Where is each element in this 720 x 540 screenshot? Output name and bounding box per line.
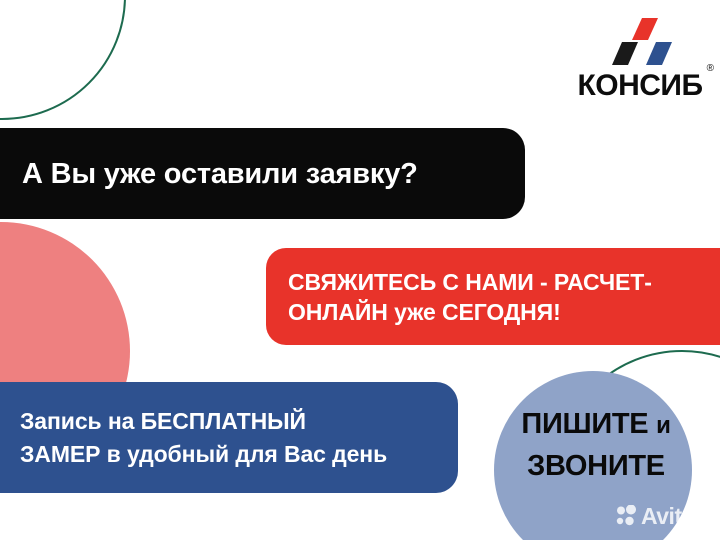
promo-banner: КОНСИБ ® А Вы уже оставили заявку? СВЯЖИ…: [0, 0, 720, 540]
registered-trademark-symbol: ®: [707, 64, 714, 74]
contact-line-2-zvonite: ЗВОНИТЕ: [527, 450, 665, 482]
contact-caption: ПИШИТЕ и ЗВОНИТЕ: [494, 404, 698, 486]
logo-wordmark: КОНСИБ: [568, 70, 712, 102]
measurement-text: Запись на БЕСПЛАТНЫЙ ЗАМЕР в удобный для…: [20, 405, 387, 471]
contact-line-1-pishite: ПИШИТЕ: [521, 408, 648, 440]
headline-text: А Вы уже оставили заявку?: [22, 157, 418, 191]
offer-text: СВЯЖИТЕСЬ С НАМИ - РАСЧЕТ- ОНЛАЙН уже СЕ…: [288, 267, 652, 327]
measurement-line-2: ЗАМЕР в удобный для Вас день: [20, 441, 387, 467]
konsib-logo: КОНСИБ ®: [568, 18, 712, 104]
contact-line-1-i: и: [656, 412, 670, 439]
offer-line-2-online: ОНЛАЙН: [288, 299, 388, 325]
measurement-line-1: Запись на БЕСПЛАТНЫЙ: [20, 408, 306, 434]
offer-line-2-segodnya: СЕГОДНЯ!: [442, 299, 561, 325]
offer-line-1: СВЯЖИТЕСЬ С НАМИ - РАСЧЕТ-: [288, 269, 652, 295]
avito-watermark: Avito: [616, 504, 695, 528]
green-ring-top-left-decoration: [0, 0, 126, 120]
offer-line-2-uzhe: уже: [394, 299, 436, 325]
avito-wordmark: Avito: [641, 504, 695, 528]
logo-mark-icon: [612, 18, 678, 68]
avito-dots-icon: [616, 505, 638, 527]
offer-banner: СВЯЖИТЕСЬ С НАМИ - РАСЧЕТ- ОНЛАЙН уже СЕ…: [266, 248, 720, 345]
headline-banner: А Вы уже оставили заявку?: [0, 128, 525, 219]
measurement-banner: Запись на БЕСПЛАТНЫЙ ЗАМЕР в удобный для…: [0, 382, 458, 493]
